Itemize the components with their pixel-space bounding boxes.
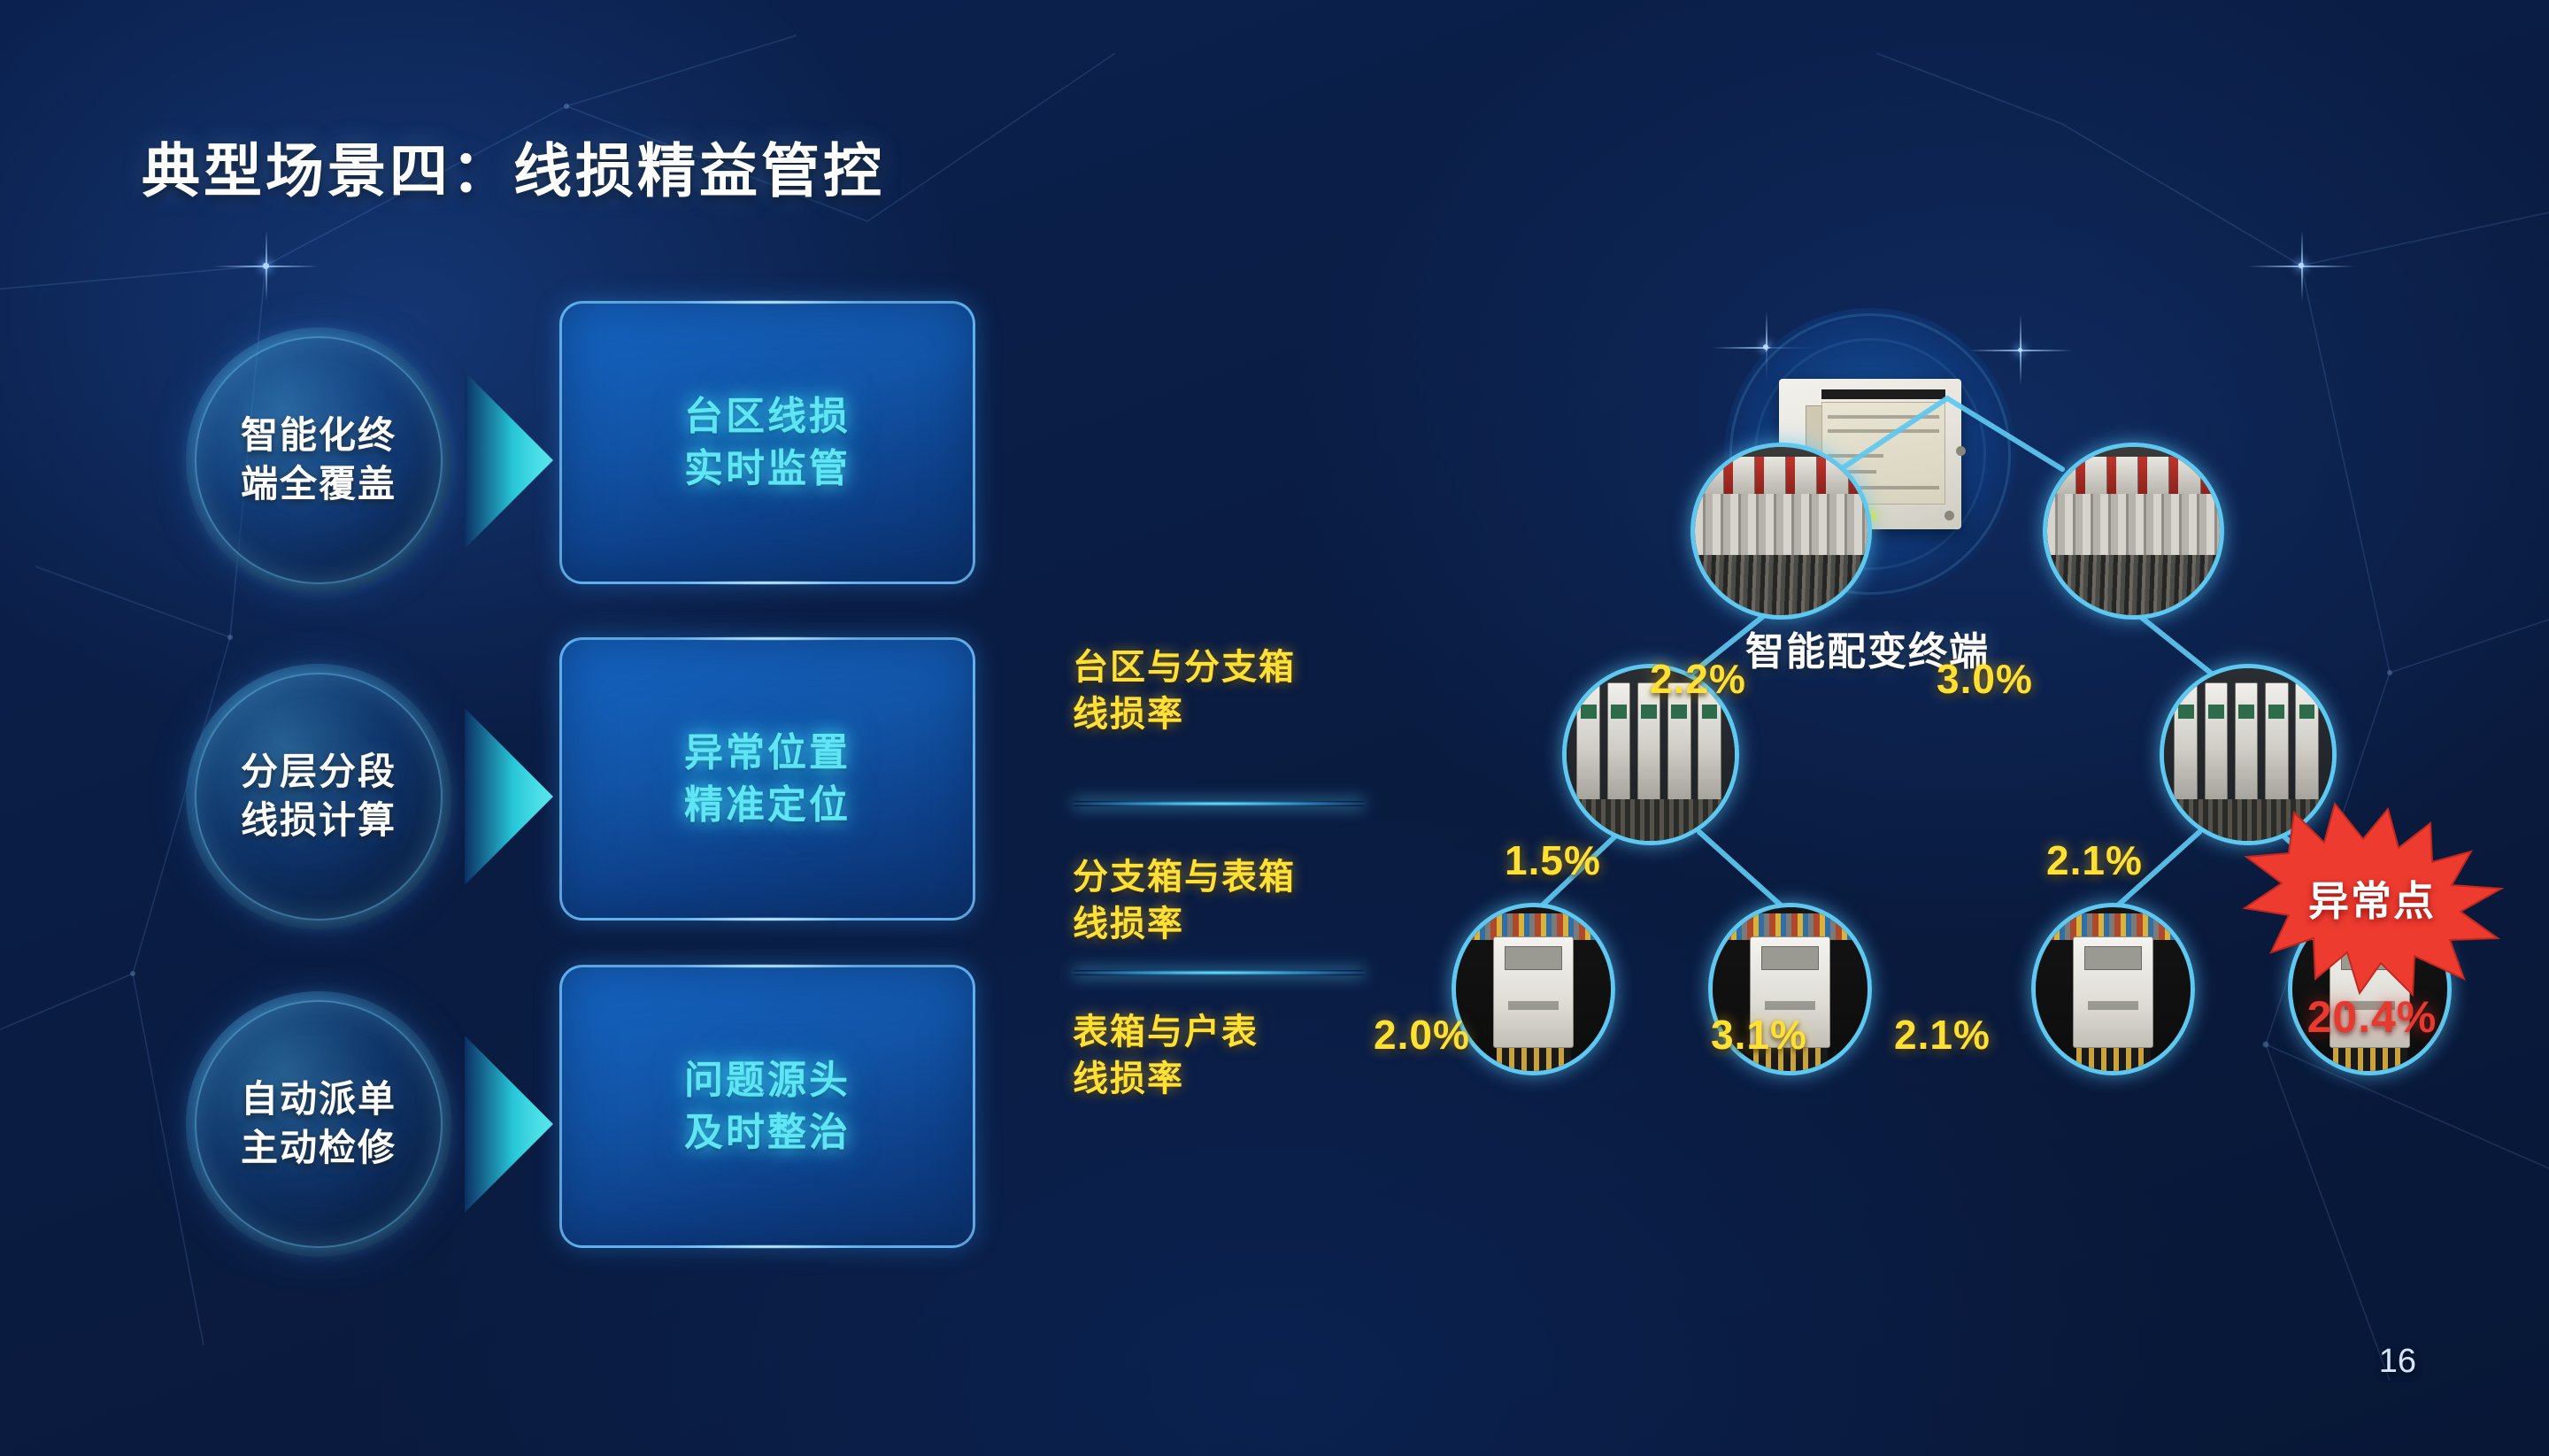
tree-node-household-meter-1[interactable] bbox=[1452, 903, 1615, 1075]
flow-arrow-1 bbox=[465, 372, 553, 549]
tree-node-branch-box-1[interactable] bbox=[1690, 443, 1872, 620]
electric-meter-icon bbox=[2036, 907, 2191, 1071]
flow-panel-3-label: 问题源头 及时整治 bbox=[684, 1054, 851, 1159]
flow-panel-2[interactable]: 异常位置 精准定位 bbox=[559, 637, 975, 921]
breaker-panel-icon bbox=[2047, 447, 2220, 615]
tree-connection-lines bbox=[1328, 292, 2549, 1248]
page-title: 典型场景四：线损精益管控 bbox=[142, 124, 885, 209]
flow-orb-3[interactable]: 自动派单 主动检修 bbox=[186, 991, 451, 1257]
loss-rate-tree bbox=[1328, 292, 2549, 1248]
loss-rate-label-l1-left: 2.2% bbox=[1650, 655, 1746, 703]
tree-node-household-meter-3[interactable] bbox=[2031, 903, 2195, 1075]
flow-panel-3[interactable]: 问题源头 及时整治 bbox=[559, 965, 975, 1248]
flow-panel-1[interactable]: 台区线损 实时监管 bbox=[559, 301, 975, 584]
flow-orb-1[interactable]: 智能化终 端全覆盖 bbox=[186, 327, 451, 593]
flow-orb-2-label: 分层分段 线损计算 bbox=[241, 748, 397, 844]
flow-orb-1-label: 智能化终 端全覆盖 bbox=[241, 412, 397, 508]
legend-divider-2 bbox=[1073, 970, 1365, 975]
electric-meter-icon bbox=[1456, 907, 1611, 1071]
flow-orb-2[interactable]: 分层分段 线损计算 bbox=[186, 664, 451, 929]
loss-rate-label-l1-right: 3.0% bbox=[1937, 655, 2033, 703]
anomaly-loss-rate-value: 20.4% bbox=[2248, 991, 2496, 1043]
flow-arrow-3 bbox=[465, 1036, 553, 1213]
flow-panel-1-label: 台区线损 实时监管 bbox=[684, 390, 851, 496]
legend-divider-1 bbox=[1073, 801, 1365, 806]
loss-rate-label-l3-2: 3.1% bbox=[1711, 1011, 1807, 1059]
flow-arrow-2 bbox=[465, 708, 553, 885]
loss-rate-label-l2-left: 1.5% bbox=[1505, 836, 1601, 884]
anomaly-callout[interactable]: 异常点 bbox=[2239, 797, 2505, 1000]
loss-rate-label-l2-right: 2.1% bbox=[2046, 836, 2143, 884]
loss-rate-label-l3-1: 2.0% bbox=[1374, 1011, 1470, 1059]
breaker-panel-icon bbox=[1695, 447, 1867, 615]
flow-orb-3-label: 自动派单 主动检修 bbox=[241, 1075, 397, 1172]
anomaly-badge-label: 异常点 bbox=[2239, 797, 2505, 1000]
tree-node-branch-box-2[interactable] bbox=[2043, 443, 2224, 620]
flow-panel-2-label: 异常位置 精准定位 bbox=[684, 727, 851, 832]
page-number: 16 bbox=[2379, 1343, 2416, 1381]
loss-rate-label-l3-3: 2.1% bbox=[1894, 1011, 1991, 1059]
